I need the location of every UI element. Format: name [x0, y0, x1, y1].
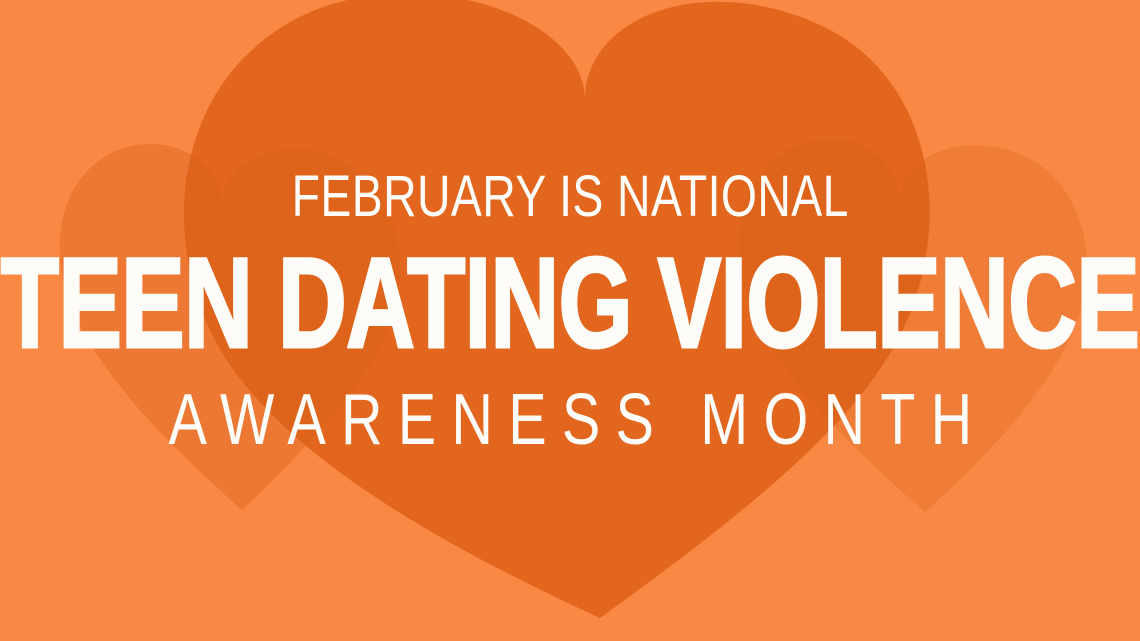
headline-text-block: FEBRUARY IS NATIONAL TEEN DATING VIOLENC… — [0, 0, 1140, 641]
poster-canvas: FEBRUARY IS NATIONAL TEEN DATING VIOLENC… — [0, 0, 1140, 641]
eyebrow-line: FEBRUARY IS NATIONAL — [291, 168, 848, 226]
subheadline-line: AWARENESS MONTH — [153, 384, 987, 456]
main-headline: TEEN DATING VIOLENCE — [1, 240, 1139, 368]
